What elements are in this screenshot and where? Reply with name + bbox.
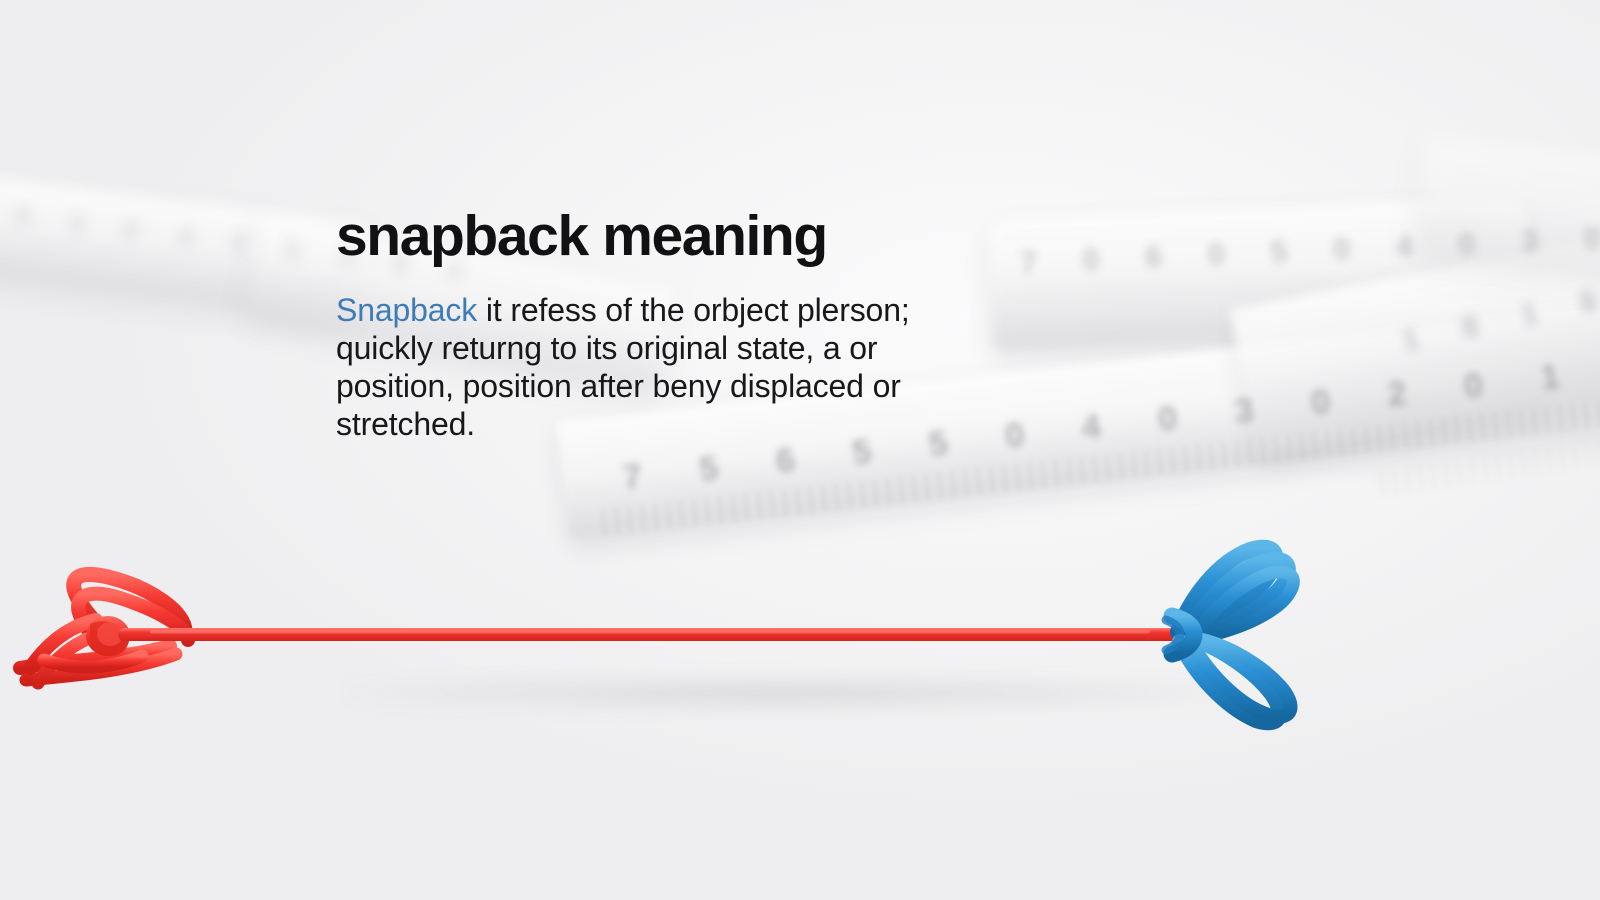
tape-tick-label: 40 [176, 220, 288, 264]
poster-canvas: 2030405060 7060504030 75655040302010 181… [0, 0, 1600, 900]
tape-tick-label: 50 [1270, 231, 1397, 270]
tape-segment-front-right [1230, 229, 1600, 456]
definition-text: Snapback it refess of the orbject plerso… [336, 292, 966, 443]
tape-tick-label: 75 [621, 443, 778, 498]
tape-tick-label: 70 [1020, 241, 1147, 280]
tape-tick-label: 40 [1395, 225, 1522, 264]
text-block: snapback meaning Snapback it refess of t… [336, 206, 996, 443]
rubber-band-illustration [0, 520, 1600, 780]
tape-segment-left [0, 169, 364, 318]
tape-ticks-right: 1816 [1399, 275, 1600, 358]
tape-tickmarks-right [1379, 434, 1600, 496]
tape-tick-label: 18 [1399, 300, 1525, 358]
tape-segment-arch [987, 197, 1532, 351]
tape-tick-label: 30 [1521, 220, 1600, 259]
tape-tick-label: 30 [1233, 376, 1390, 431]
tape-tick-label: 20 [0, 193, 72, 237]
tape-segment-far-right [1414, 137, 1600, 284]
tape-tick-label: 40 [1080, 393, 1237, 448]
page-title: snapback meaning [336, 206, 996, 266]
tape-tick-label: 10 [1539, 343, 1600, 398]
rubber-band-svg [0, 520, 1600, 780]
tape-ticks-left: 2030405060 [0, 193, 360, 274]
strand-highlight [150, 630, 1150, 634]
tape-ticks-arch: 7060504030 [1020, 226, 1521, 281]
tape-tick-label: 30 [68, 207, 180, 251]
definition-term: Snapback [336, 292, 477, 328]
tape-tick-label: 20 [1386, 360, 1543, 415]
stretched-strand [118, 628, 1178, 641]
tape-tick-label: 16 [1518, 275, 1600, 333]
tape-tick-label: 60 [1145, 236, 1272, 275]
